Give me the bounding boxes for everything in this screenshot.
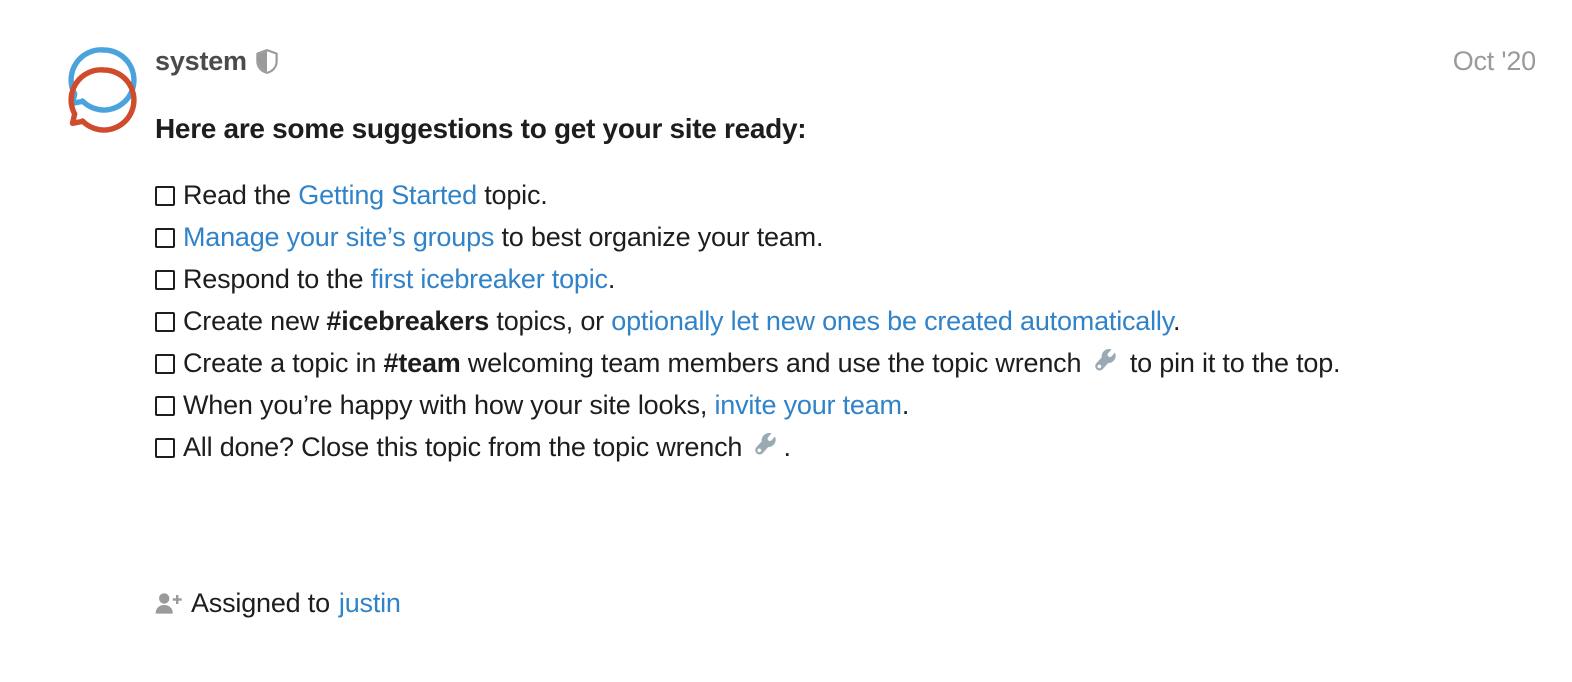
task-link[interactable]: optionally let new ones be created autom…: [611, 306, 1173, 336]
task-checkbox[interactable]: [155, 354, 175, 374]
wrench-emoji-icon: [1091, 346, 1121, 376]
task-item: Read the Getting Started topic.: [155, 174, 1540, 216]
task-item: When you’re happy with how your site loo…: [155, 384, 1540, 426]
task-text: Read the: [183, 180, 298, 210]
assigned-label: Assigned to: [191, 588, 330, 619]
task-category-tag: #icebreakers: [326, 306, 489, 336]
task-text: topics, or: [489, 306, 611, 336]
shield-icon: [256, 49, 278, 74]
task-checkbox[interactable]: [155, 312, 175, 332]
task-text: .: [902, 390, 909, 420]
task-category-tag: #team: [384, 348, 461, 378]
wrench-emoji-icon: [751, 430, 781, 460]
post-header: system Oct '20: [155, 42, 1536, 80]
task-text: .: [1173, 306, 1180, 336]
assignee-link[interactable]: justin: [339, 588, 401, 619]
task-item: Create new #icebreakers topics, or optio…: [155, 300, 1540, 342]
task-text: to pin it to the top.: [1123, 348, 1341, 378]
task-text: .: [783, 432, 790, 462]
task-item: Create a topic in #team welcoming team m…: [155, 342, 1540, 384]
task-link[interactable]: Getting Started: [298, 180, 477, 210]
task-text: When you’re happy with how your site loo…: [183, 390, 714, 420]
post-date: Oct '20: [1453, 48, 1536, 75]
task-checkbox[interactable]: [155, 270, 175, 290]
task-item: All done? Close this topic from the topi…: [155, 426, 1540, 468]
username[interactable]: system: [155, 48, 247, 75]
post-body: Here are some suggestions to get your si…: [155, 112, 1540, 468]
task-text: Respond to the: [183, 264, 371, 294]
page-title: Here are some suggestions to get your si…: [155, 112, 1540, 146]
task-text: .: [608, 264, 615, 294]
task-checkbox[interactable]: [155, 186, 175, 206]
task-link[interactable]: invite your team: [714, 390, 901, 420]
task-item: Manage your site’s groups to best organi…: [155, 216, 1540, 258]
assigned-row: Assigned to justin: [155, 588, 401, 619]
task-text: Create new: [183, 306, 326, 336]
task-checkbox[interactable]: [155, 396, 175, 416]
task-text: to best organize your team.: [494, 222, 823, 252]
task-checkbox[interactable]: [155, 438, 175, 458]
task-checkbox[interactable]: [155, 228, 175, 248]
task-link[interactable]: Manage your site’s groups: [183, 222, 494, 252]
task-link[interactable]: first icebreaker topic: [371, 264, 608, 294]
task-text: welcoming team members and use the topic…: [461, 348, 1089, 378]
task-list: Read the Getting Started topic. Manage y…: [155, 174, 1540, 468]
task-text: Create a topic in: [183, 348, 384, 378]
user-plus-icon: [155, 592, 182, 616]
task-text: topic.: [477, 180, 548, 210]
post-container: system Oct '20 Here are some suggestions…: [0, 0, 1572, 682]
avatar[interactable]: [46, 42, 142, 138]
task-item: Respond to the first icebreaker topic.: [155, 258, 1540, 300]
task-text: All done? Close this topic from the topi…: [183, 432, 749, 462]
discourse-logo-avatar-icon: [46, 42, 142, 138]
